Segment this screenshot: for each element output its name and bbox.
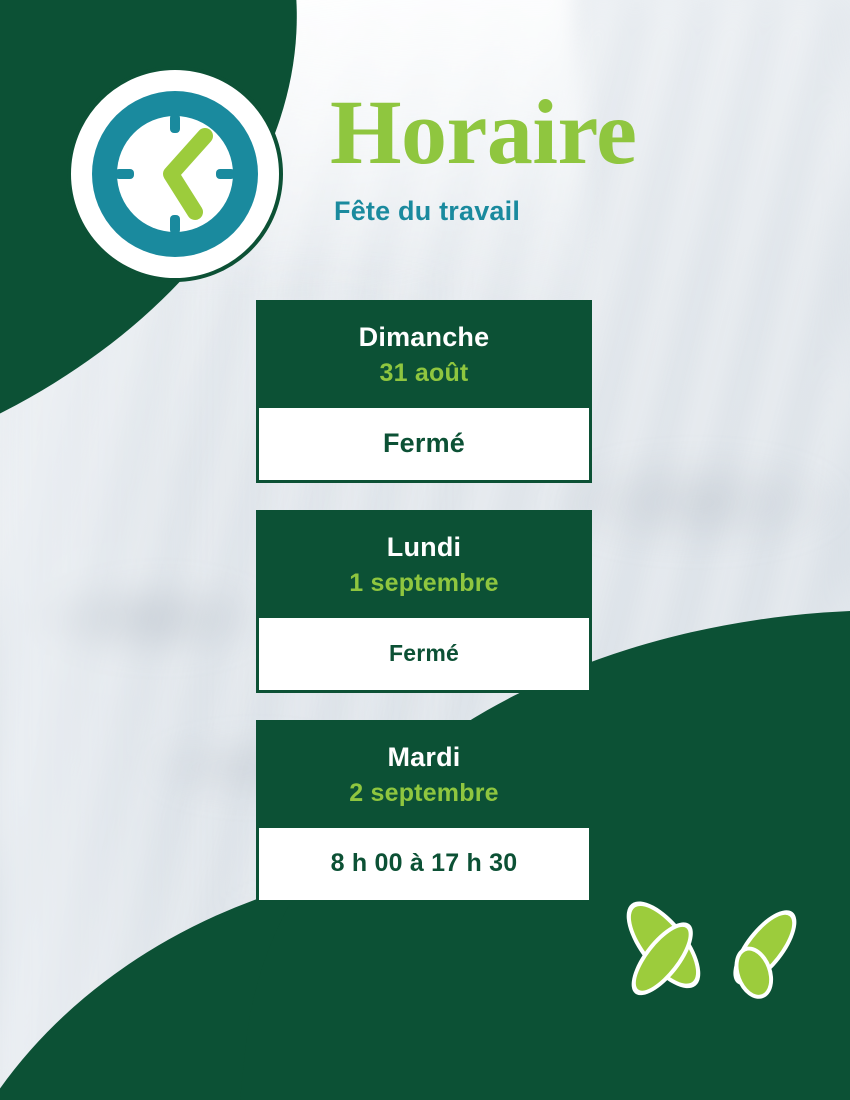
schedule-date-label: 31 août [264,358,584,388]
schedule-card-body: Fermé [256,618,592,693]
schedule-card: Dimanche 31 août Fermé [256,300,592,483]
butterfly-logo [619,856,809,1046]
schedule-date-label: 1 septembre [264,568,584,598]
schedule-hours-value: Fermé [389,640,459,667]
schedule-poster: Horaire Fête du travail Dimanche 31 août… [0,0,850,1100]
schedule-card: Lundi 1 septembre Fermé [256,510,592,693]
schedule-hours-value: 8 h 00 à 17 h 30 [331,849,518,878]
schedule-card: Mardi 2 septembre 8 h 00 à 17 h 30 [256,720,592,903]
schedule-day-label: Dimanche [264,322,584,354]
schedule-card-header: Dimanche 31 août [256,300,592,408]
schedule-card-body: 8 h 00 à 17 h 30 [256,828,592,903]
schedule-hours-value: Fermé [383,428,465,459]
schedule-day-label: Mardi [264,742,584,774]
schedule-card-header: Lundi 1 septembre [256,510,592,618]
poster-header: Horaire Fête du travail [0,0,850,290]
page-subtitle: Fête du travail [334,196,830,227]
clock-icon [67,66,283,282]
schedule-day-label: Lundi [264,532,584,564]
schedule-card-body: Fermé [256,408,592,483]
schedule-card-header: Mardi 2 septembre [256,720,592,828]
title-block: Horaire Fête du travail [330,86,830,227]
schedule-list: Dimanche 31 août Fermé Lundi 1 septembre… [256,300,592,930]
page-title: Horaire [330,86,830,178]
schedule-date-label: 2 septembre [264,778,584,808]
